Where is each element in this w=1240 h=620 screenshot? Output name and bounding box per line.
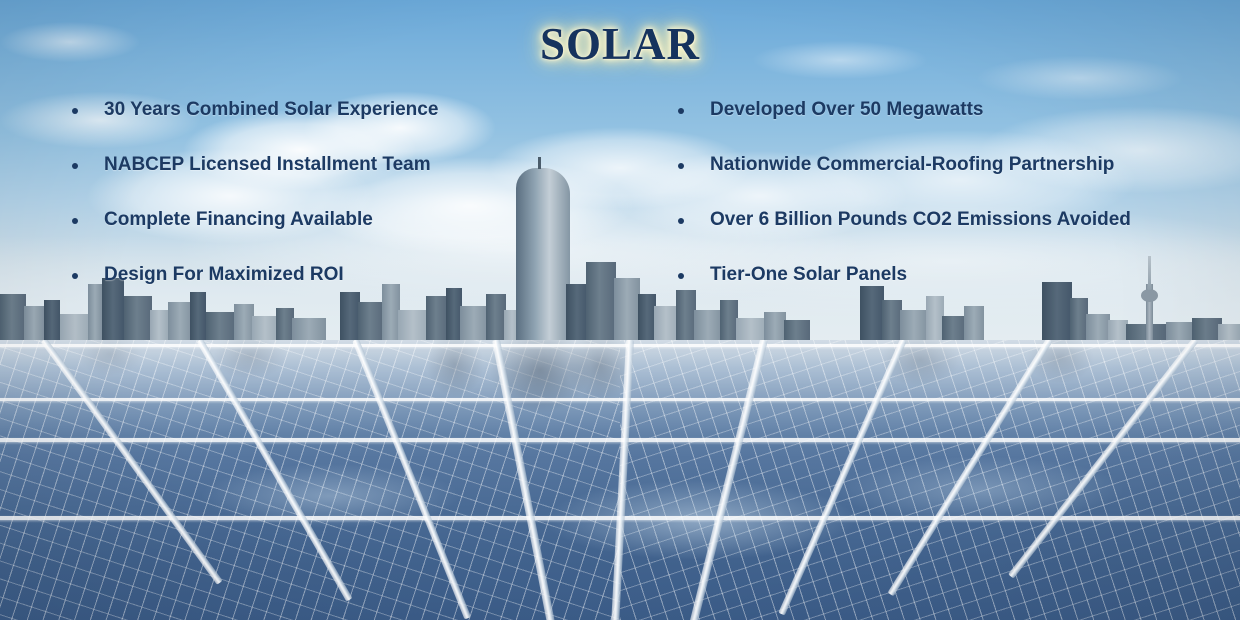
bullet-dot-icon: [678, 273, 684, 279]
list-item: 30 Years Combined Solar Experience: [72, 98, 632, 153]
bullet-dot-icon: [72, 218, 78, 224]
bullet-column-right: Developed Over 50 Megawatts Nationwide C…: [678, 98, 1218, 318]
solar-marketing-slide: SOLAR 30 Years Combined Solar Experience…: [0, 0, 1240, 620]
bullet-label: Design For Maximized ROI: [104, 263, 344, 287]
list-item: Complete Financing Available: [72, 208, 632, 263]
list-item: Design For Maximized ROI: [72, 263, 632, 318]
list-item: Over 6 Billion Pounds CO2 Emissions Avoi…: [678, 208, 1218, 263]
bullet-dot-icon: [678, 218, 684, 224]
bullet-column-left: 30 Years Combined Solar Experience NABCE…: [72, 98, 632, 318]
bullet-label: Complete Financing Available: [104, 208, 373, 232]
bullet-dot-icon: [678, 163, 684, 169]
page-title: SOLAR: [0, 18, 1240, 70]
list-item: Tier-One Solar Panels: [678, 263, 1218, 318]
bullet-dot-icon: [72, 163, 78, 169]
solar-panel-array: [0, 340, 1240, 620]
bullet-dot-icon: [72, 108, 78, 114]
bullet-dot-icon: [678, 108, 684, 114]
list-item: Developed Over 50 Megawatts: [678, 98, 1218, 153]
bullet-label: Tier-One Solar Panels: [710, 263, 907, 287]
bullet-label: 30 Years Combined Solar Experience: [104, 98, 438, 122]
list-item: NABCEP Licensed Installment Team: [72, 153, 632, 208]
bullet-dot-icon: [72, 273, 78, 279]
list-item: Nationwide Commercial-Roofing Partnershi…: [678, 153, 1218, 208]
bullet-label: Over 6 Billion Pounds CO2 Emissions Avoi…: [710, 208, 1131, 232]
bullet-label: Developed Over 50 Megawatts: [710, 98, 984, 122]
bullet-label: NABCEP Licensed Installment Team: [104, 153, 431, 177]
bullet-label: Nationwide Commercial-Roofing Partnershi…: [710, 153, 1114, 177]
